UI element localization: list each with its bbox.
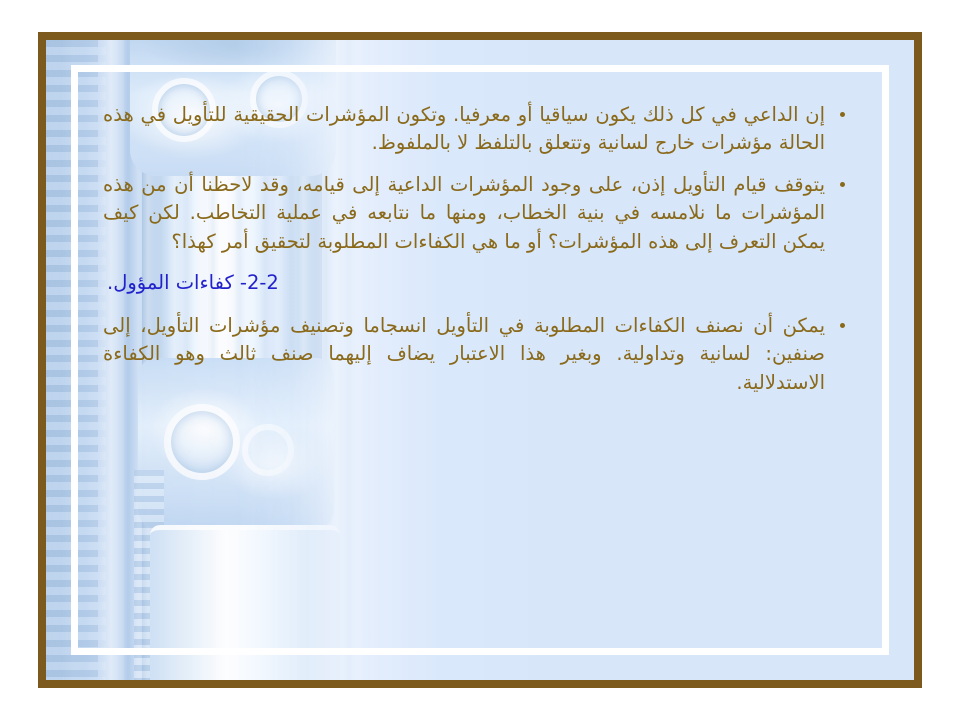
slide-frame: إن الداعي في كل ذلك يكون سياقيا أو معرفي… (38, 32, 922, 688)
list-item: إن الداعي في كل ذلك يكون سياقيا أو معرفي… (103, 101, 851, 158)
slide-content: إن الداعي في كل ذلك يكون سياقيا أو معرفي… (79, 73, 881, 647)
bullet-list-continued: يمكن أن نصنف الكفاءات المطلوبة في التأوي… (103, 312, 851, 397)
bullet-3-text: يمكن أن نصنف الكفاءات المطلوبة في التأوي… (103, 312, 825, 397)
list-item: يتوقف قيام التأويل إذن، على وجود المؤشرا… (103, 171, 851, 256)
bullet-2-text: يتوقف قيام التأويل إذن، على وجود المؤشرا… (103, 171, 825, 256)
bullet-list: إن الداعي في كل ذلك يكون سياقيا أو معرفي… (103, 101, 851, 256)
section-heading-2-2: 2-2- كفاءات المؤول. (103, 269, 851, 297)
bullet-1-text: إن الداعي في كل ذلك يكون سياقيا أو معرفي… (103, 101, 825, 158)
list-item: يمكن أن نصنف الكفاءات المطلوبة في التأوي… (103, 312, 851, 397)
